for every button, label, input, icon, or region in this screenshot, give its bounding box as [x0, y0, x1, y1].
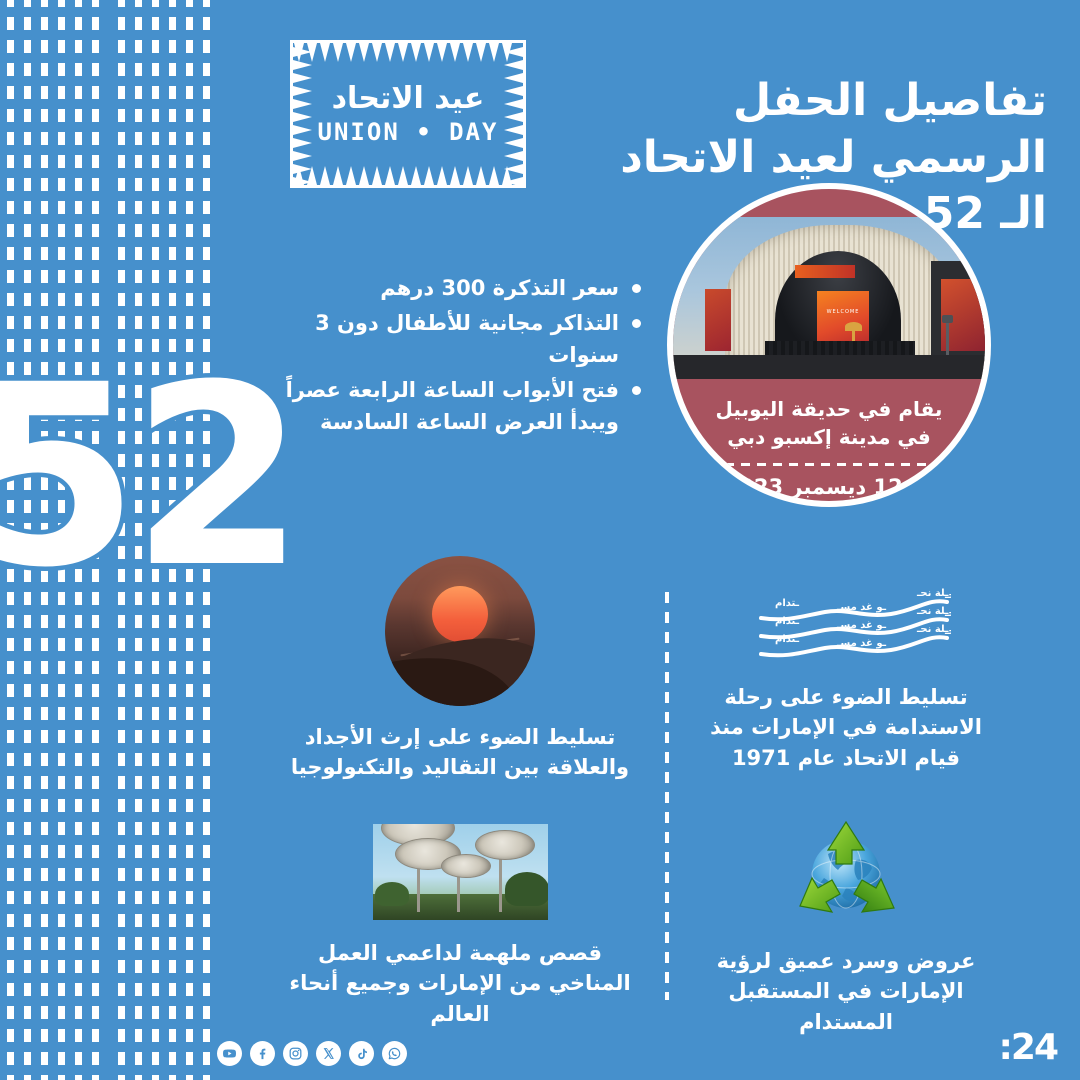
logo-fringe-left	[294, 43, 316, 185]
youtube-icon[interactable]	[218, 1041, 243, 1066]
event-date: 5 -12 ديسمبر 2023	[698, 475, 962, 499]
svg-text:ـلة نحـ: ـلة نحـ	[917, 606, 950, 617]
union-day-logo: عيد الاتحاد UNION • DAY	[291, 40, 527, 188]
solar-canopy	[476, 830, 536, 860]
x-icon[interactable]	[317, 1041, 342, 1066]
stage-top-banner	[796, 265, 856, 278]
desert-sunset-photo	[386, 556, 536, 706]
stage-deck	[670, 355, 992, 379]
feature-future-vision: عروض وسرد عميق لرؤية الإمارات في المستقب…	[694, 820, 1000, 1037]
event-details-list: سعر التذكرة 300 درهم التذاكر مجانية للأط…	[258, 272, 648, 441]
logo-fringe-right	[502, 43, 524, 185]
anniversary-number-52: 52	[42, 352, 222, 602]
svg-text:ـتدام: ـتدام	[776, 598, 801, 609]
sun-shape	[433, 586, 489, 642]
feature-sustainability-journey: رحـ ـلة نحـ ـو غد مسـ ـتدام رحـ ـلة نحـ …	[694, 588, 1000, 773]
svg-text:ـو غد مسـ: ـو غد مسـ	[837, 602, 888, 613]
feature-caption: تسليط الضوء على إرث الأجداد والعلاقة بين…	[278, 722, 644, 783]
list-item: التذاكر مجانية للأطفال دون 3 سنوات	[258, 307, 648, 372]
whatsapp-icon[interactable]	[383, 1041, 408, 1066]
concert-stage-photo	[670, 217, 992, 379]
svg-text:ـتدام: ـتدام	[776, 616, 801, 627]
recycle-globe-icon	[785, 820, 909, 930]
svg-text:ـو غد مسـ: ـو غد مسـ	[837, 620, 888, 631]
solar-canopy	[442, 854, 492, 878]
solar-foliage	[376, 882, 410, 906]
list-item: سعر التذكرة 300 درهم	[258, 272, 648, 305]
sustainability-wave-logo: رحـ ـلة نحـ ـو غد مسـ ـتدام رحـ ـلة نحـ …	[742, 588, 952, 660]
facebook-icon[interactable]	[251, 1041, 276, 1066]
feature-caption: قصص ملهمة لداعمي العمل المناخي من الإمار…	[278, 938, 644, 1029]
venue-caption: يقام في حديقة اليوبيل في مدينة إكسبو دبي	[698, 395, 962, 451]
logo-arabic-text: عيد الاتحاد	[333, 84, 486, 114]
infographic-canvas: 52 عيد الاتحاد UNION • DAY تفاصيل الحفل …	[0, 0, 1080, 1080]
feature-caption: عروض وسرد عميق لرؤية الإمارات في المستقب…	[694, 946, 1000, 1037]
solar-foliage	[506, 872, 549, 906]
svg-text:ـلة نحـ: ـلة نحـ	[917, 588, 950, 599]
tiktok-icon[interactable]	[350, 1041, 375, 1066]
svg-text:ـلة نحـ: ـلة نحـ	[917, 624, 950, 635]
stage-banner-left	[706, 289, 732, 351]
list-item: فتح الأبواب الساعة الرابعة عصراً ويبدأ ا…	[258, 374, 648, 439]
svg-text:ـو غد مسـ: ـو غد مسـ	[837, 638, 888, 649]
logo-fringe-bottom	[291, 163, 527, 185]
logo-english-text: UNION • DAY	[319, 120, 500, 144]
svg-text:ـتدام: ـتدام	[776, 634, 801, 645]
anniversary-number-text: 52	[0, 352, 298, 602]
feature-climate-stories: قصص ملهمة لداعمي العمل المناخي من الإمار…	[278, 824, 644, 1029]
feature-caption: تسليط الضوء على رحلة الاستدامة في الإمار…	[694, 682, 1000, 773]
venue-hero-circle: يقام في حديقة اليوبيل في مدينة إكسبو دبي…	[668, 183, 992, 507]
logo-fringe-top	[291, 43, 527, 65]
stage-light-pole	[947, 321, 950, 359]
hero-dashed-divider	[726, 463, 934, 466]
vertical-dashed-divider	[666, 592, 670, 1000]
social-links	[218, 1041, 408, 1066]
feature-heritage: تسليط الضوء على إرث الأجداد والعلاقة بين…	[278, 556, 644, 783]
solar-trees-photo	[374, 824, 549, 920]
brand-logo-24: :24	[1000, 1030, 1059, 1066]
instagram-icon[interactable]	[284, 1041, 309, 1066]
